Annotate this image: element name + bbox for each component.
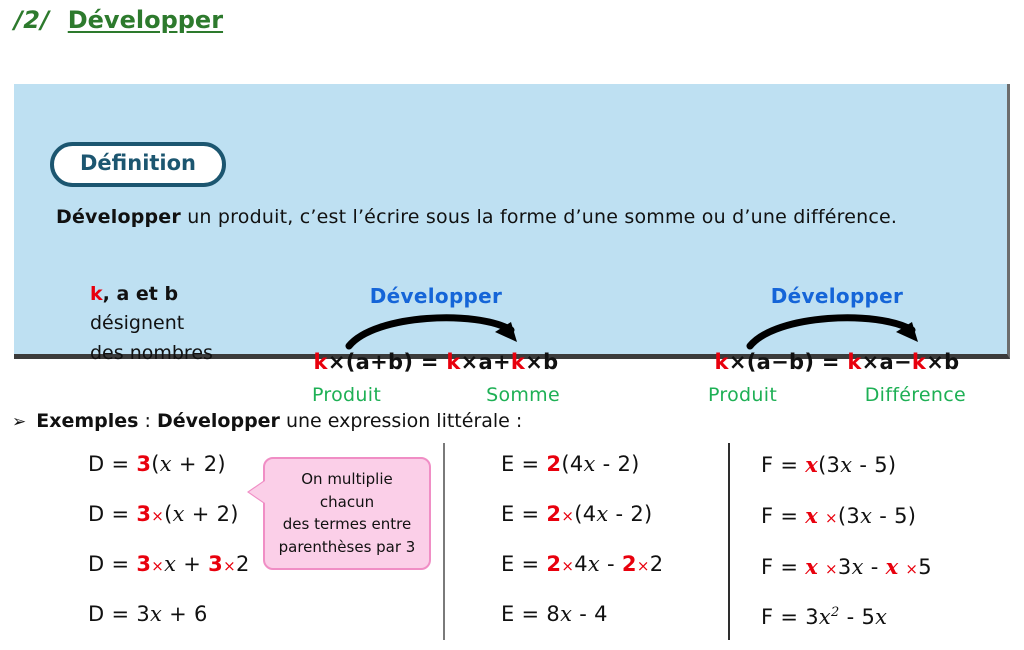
- variables-note: k, a et b désignent des nombres: [90, 280, 213, 368]
- example-d-line-2: D = 3×(x + 2): [88, 502, 250, 526]
- formula-group-sum: Développer k×(a+b) = k×a+k×b Produit Som…: [306, 284, 566, 406]
- formula-difference-heading: Développer: [702, 284, 972, 308]
- example-column-e: E = 2(4x - 2) E = 2×(4x - 2) E = 2×4x - …: [501, 452, 663, 626]
- example-f-line-1: F = x(3x - 5): [761, 452, 932, 477]
- formula-sum-left-k: k: [314, 350, 328, 374]
- definition-box: Définition Développer un produit, c’est …: [14, 84, 1010, 359]
- examples-heading-word: Exemples: [36, 410, 138, 432]
- variables-note-line-1-rest: , a et b: [103, 283, 178, 305]
- formula-sum-label-right: Somme: [486, 384, 560, 406]
- examples-heading: ➢Exemples : Développer une expression li…: [12, 410, 522, 432]
- formula-sum-heading: Développer: [306, 284, 566, 308]
- formula-sum-equals: =: [421, 350, 439, 374]
- curved-arrow-icon: [341, 310, 531, 352]
- formula-difference-labels: Produit Différence: [702, 384, 972, 406]
- variables-note-line-3: des nombres: [90, 339, 213, 368]
- column-divider-1: [443, 443, 445, 640]
- definition-sentence-bold: Développer: [56, 206, 181, 228]
- example-d-line-1: D = 3(x + 2): [88, 452, 250, 476]
- hint-callout-line-1: On multiplie chacun: [273, 468, 421, 513]
- examples-heading-verb: Développer: [157, 410, 280, 432]
- page-title: /2/ Développer: [14, 6, 223, 34]
- example-column-f: F = x(3x - 5) F = x ×(3x - 5) F = x ×3x …: [761, 452, 932, 629]
- definition-sentence-rest: un produit, c’est l’écrire sous la forme…: [181, 206, 897, 228]
- formula-difference-right: k×a−k×b: [847, 350, 959, 374]
- formula-sum-left-rest: ×(a+b): [328, 350, 413, 374]
- formula-sum-label-left: Produit: [312, 384, 381, 406]
- definition-sentence: Développer un produit, c’est l’écrire so…: [56, 206, 897, 228]
- example-f-line-3: F = x ×3x - x ×5: [761, 554, 932, 579]
- hint-callout: On multiplie chacun des termes entre par…: [263, 457, 431, 570]
- example-e-line-2: E = 2×(4x - 2): [501, 502, 663, 526]
- formula-difference-equation: k×(a−b) = k×a−k×b: [702, 350, 972, 374]
- formula-sum-right: k×a+k×b: [446, 350, 558, 374]
- hint-callout-line-2: des termes entre: [273, 513, 421, 536]
- formula-sum-equation: k×(a+b) = k×a+k×b: [306, 350, 566, 374]
- definition-pill-label: Définition: [50, 142, 226, 187]
- formula-sum-labels: Produit Somme: [306, 384, 566, 406]
- example-e-line-4: E = 8x - 4: [501, 602, 663, 626]
- examples-heading-sep: :: [138, 410, 156, 432]
- example-d-line-4: D = 3x + 6: [88, 602, 250, 626]
- formula-difference-label-right: Différence: [865, 384, 966, 406]
- callout-tail-icon: [249, 481, 265, 503]
- formula-difference-equals: =: [822, 350, 840, 374]
- formula-difference-left-k: k: [715, 350, 729, 374]
- example-d-line-3: D = 3×x + 3×2: [88, 552, 250, 576]
- variable-k: k: [90, 283, 103, 305]
- example-f-line-4: F = 3x2 - 5x: [761, 605, 932, 629]
- curved-arrow-icon: [742, 310, 932, 352]
- variables-note-line-1: k, a et b: [90, 280, 213, 309]
- formula-group-difference: Développer k×(a−b) = k×a−k×b Produit Dif…: [702, 284, 972, 406]
- page-title-text: Développer: [68, 6, 223, 34]
- column-divider-2: [728, 443, 730, 640]
- bullet-arrow-icon: ➢: [12, 412, 26, 432]
- example-column-d: D = 3(x + 2) D = 3×(x + 2) D = 3×x + 3×2…: [88, 452, 250, 626]
- example-e-line-3: E = 2×4x - 2×2: [501, 552, 663, 576]
- variables-note-line-2: désignent: [90, 309, 213, 338]
- example-e-line-1: E = 2(4x - 2): [501, 452, 663, 476]
- example-f-line-2: F = x ×(3x - 5): [761, 503, 932, 528]
- slide-root: /2/ Développer Définition Développer un …: [0, 0, 1024, 650]
- formula-difference-label-left: Produit: [708, 384, 777, 406]
- page-title-number: /2/: [14, 6, 50, 34]
- examples-heading-rest: une expression littérale :: [280, 410, 522, 432]
- hint-callout-line-3: parenthèses par 3: [273, 536, 421, 559]
- formula-difference-left-rest: ×(a−b): [729, 350, 814, 374]
